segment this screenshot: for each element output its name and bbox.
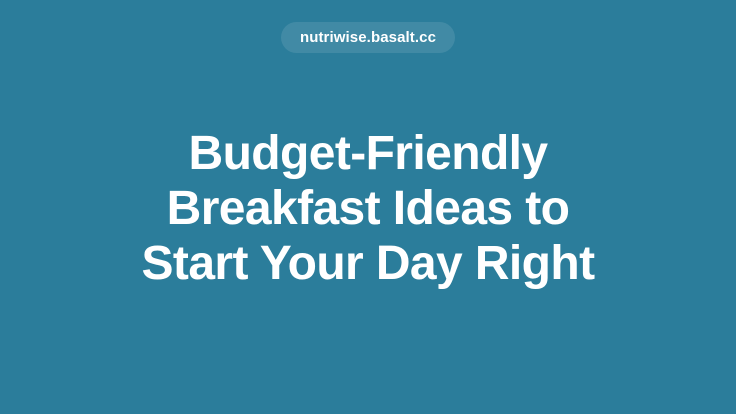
headline-line-2: Breakfast Ideas to — [0, 181, 736, 236]
headline-line-1: Budget-Friendly — [0, 126, 736, 181]
badge-row: nutriwise.basalt.cc — [0, 22, 736, 53]
page-title: Budget-Friendly Breakfast Ideas to Start… — [0, 126, 736, 291]
site-domain-badge: nutriwise.basalt.cc — [281, 22, 455, 53]
headline-line-3: Start Your Day Right — [0, 236, 736, 291]
social-card-canvas: nutriwise.basalt.cc Budget-Friendly Brea… — [0, 0, 736, 414]
